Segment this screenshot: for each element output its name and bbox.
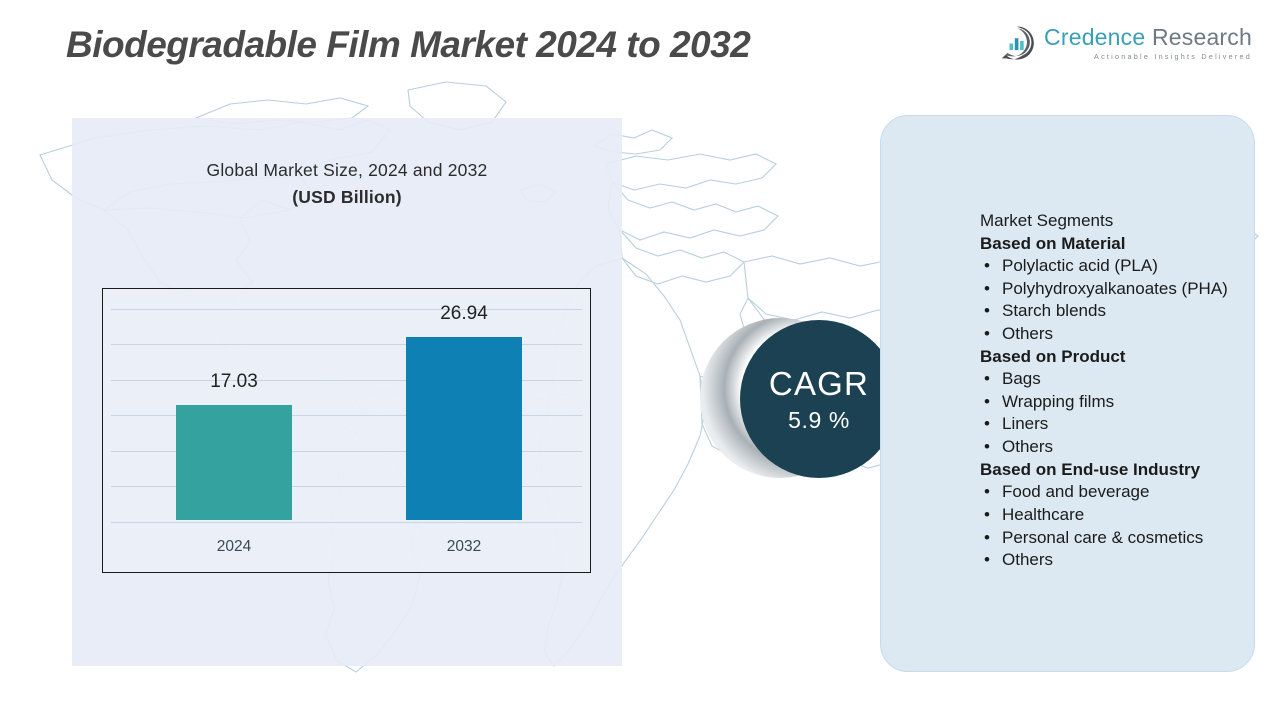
logo-text: Credence Research Actionable Insights De… bbox=[1044, 26, 1252, 60]
bar-value-2032: 26.94 bbox=[366, 303, 562, 325]
logo-tagline: Actionable Insights Delivered bbox=[1044, 53, 1252, 60]
logo-word-research: Research bbox=[1152, 24, 1252, 50]
segment-item: Healthcare bbox=[980, 504, 1245, 527]
bar-value-2024: 17.03 bbox=[136, 371, 332, 393]
segment-item: Liners bbox=[980, 413, 1245, 436]
cagr-value: 5.9 % bbox=[788, 409, 850, 432]
chart-heading-line1: Global Market Size, 2024 and 2032 bbox=[72, 160, 622, 181]
segment-group-heading-product: Based on Product bbox=[980, 346, 1245, 369]
logo-word-credence: Credence bbox=[1044, 24, 1145, 50]
cagr-label: CAGR bbox=[769, 367, 869, 400]
bar-category-2032: 2032 bbox=[366, 538, 562, 556]
credence-bar-chart-circle-icon bbox=[999, 25, 1035, 61]
segments-title: Market Segments bbox=[980, 210, 1245, 233]
bar-2024: 17.03 2024 bbox=[176, 405, 292, 520]
segment-item: Food and beverage bbox=[980, 481, 1245, 504]
segment-group-heading-enduse: Based on End-use Industry bbox=[980, 459, 1245, 482]
chart-heading: Global Market Size, 2024 and 2032 (USD B… bbox=[72, 160, 622, 208]
segment-group-heading-material: Based on Material bbox=[980, 233, 1245, 256]
segment-item: Others bbox=[980, 436, 1245, 459]
segment-item: Polylactic acid (PLA) bbox=[980, 255, 1245, 278]
chart-plot-area: 17.03 2024 26.94 2032 bbox=[103, 289, 590, 572]
cagr-circle: CAGR 5.9 % bbox=[740, 320, 898, 478]
segment-item: Polyhydroxyalkanoates (PHA) bbox=[980, 278, 1245, 301]
bar-2032: 26.94 2032 bbox=[406, 337, 522, 520]
infographic-page: Biodegradable Film Market 2024 to 2032 C… bbox=[0, 0, 1280, 720]
chart-heading-line2: (USD Billion) bbox=[72, 187, 622, 208]
segment-item: Starch blends bbox=[980, 300, 1245, 323]
segment-item: Personal care & cosmetics bbox=[980, 527, 1245, 550]
segment-item: Wrapping films bbox=[980, 391, 1245, 414]
segment-item: Others bbox=[980, 323, 1245, 346]
bar-rect-2032 bbox=[406, 337, 522, 520]
market-segments-list: Market Segments Based on Material Polyla… bbox=[980, 210, 1245, 572]
page-title: Biodegradable Film Market 2024 to 2032 bbox=[66, 24, 750, 66]
brand-logo: Credence Research Actionable Insights De… bbox=[999, 25, 1252, 61]
bar-chart: 17.03 2024 26.94 2032 bbox=[102, 288, 591, 573]
segment-item: Others bbox=[980, 549, 1245, 572]
cagr-badge: CAGR 5.9 % bbox=[700, 318, 900, 480]
bar-rect-2024 bbox=[176, 405, 292, 520]
segment-item: Bags bbox=[980, 368, 1245, 391]
bar-category-2024: 2024 bbox=[136, 538, 332, 556]
logo-wordmark: Credence Research bbox=[1044, 26, 1252, 49]
